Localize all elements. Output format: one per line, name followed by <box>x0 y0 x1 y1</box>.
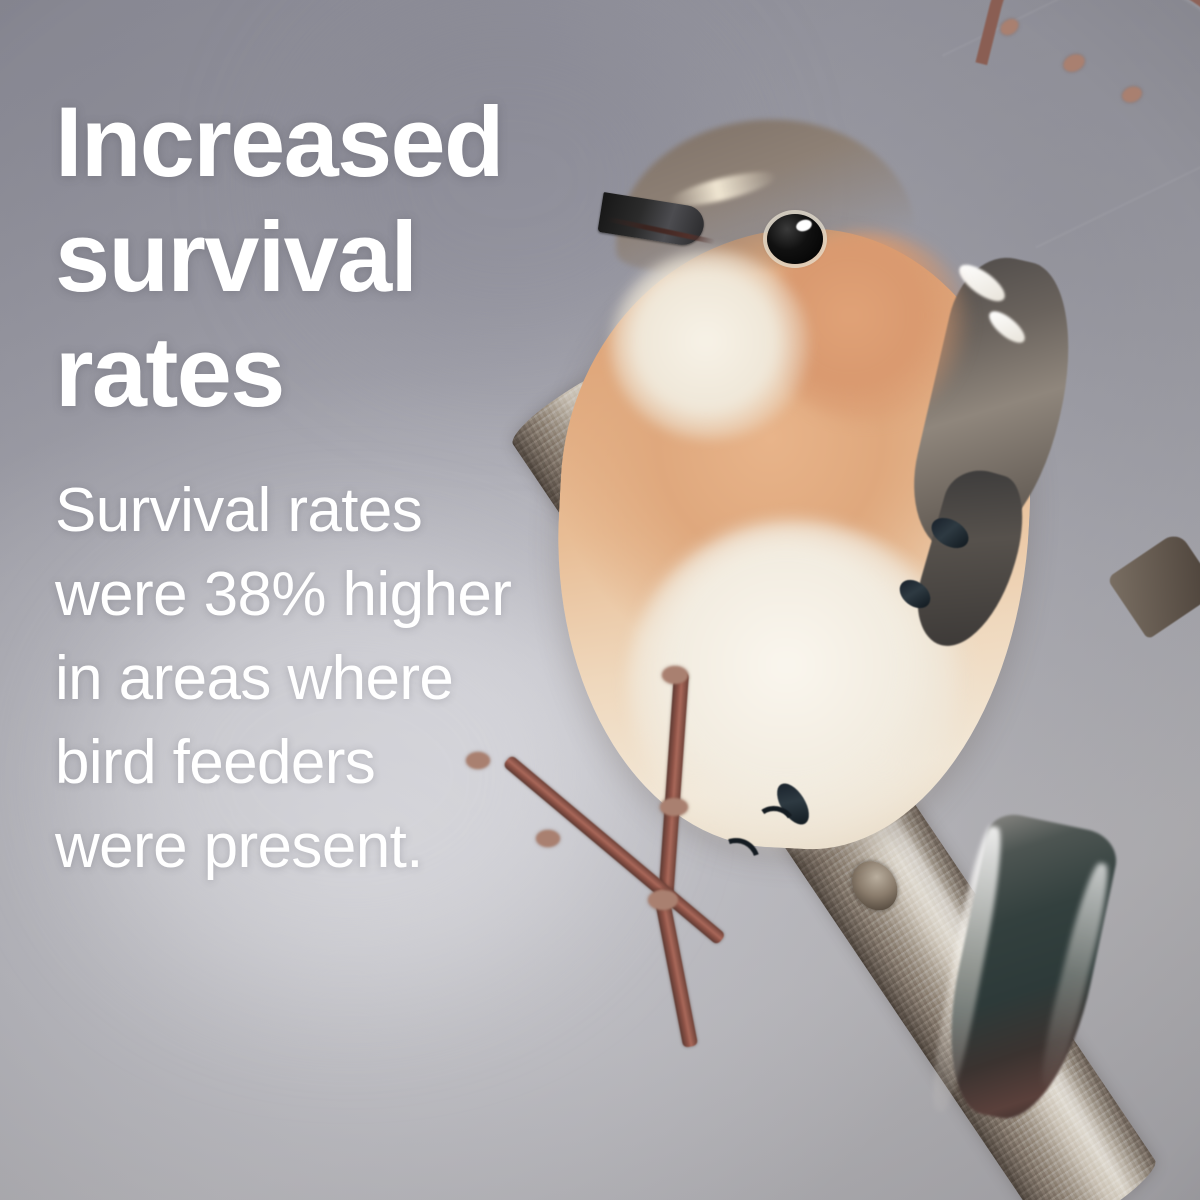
body-line: Survival rates <box>55 469 615 553</box>
body-line: were 38% higher <box>55 553 615 637</box>
body-line: bird feeders <box>55 721 615 805</box>
body-text: Survival rates were 38% higher in areas … <box>55 469 615 889</box>
headline-line: Increased <box>55 84 615 199</box>
infographic-canvas: Increased survival rates Survival rates … <box>0 0 1200 1200</box>
body-line: were present. <box>55 805 615 889</box>
body-line: in areas where <box>55 637 615 721</box>
twig-bud <box>648 890 678 910</box>
text-overlay: Increased survival rates Survival rates … <box>55 84 615 889</box>
headline-line: rates <box>55 314 615 429</box>
twig-bud <box>662 666 688 684</box>
bird-throat <box>610 250 810 440</box>
bird-eye <box>767 214 823 264</box>
page-title: Increased survival rates <box>55 84 615 429</box>
headline-line: survival <box>55 199 615 314</box>
twig-bud <box>660 798 688 816</box>
